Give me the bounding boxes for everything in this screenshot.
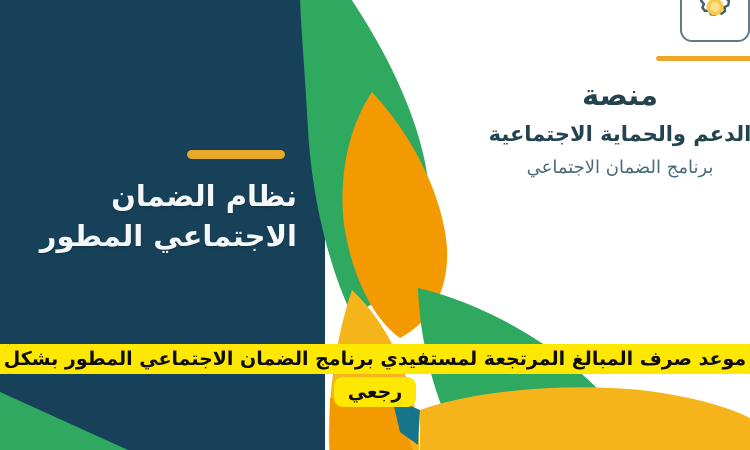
background-artwork [0, 0, 750, 450]
navy-left-panel [0, 0, 325, 450]
banner-stage: نظام الضمان الاجتماعي المطور منصة الدعم … [0, 0, 750, 450]
